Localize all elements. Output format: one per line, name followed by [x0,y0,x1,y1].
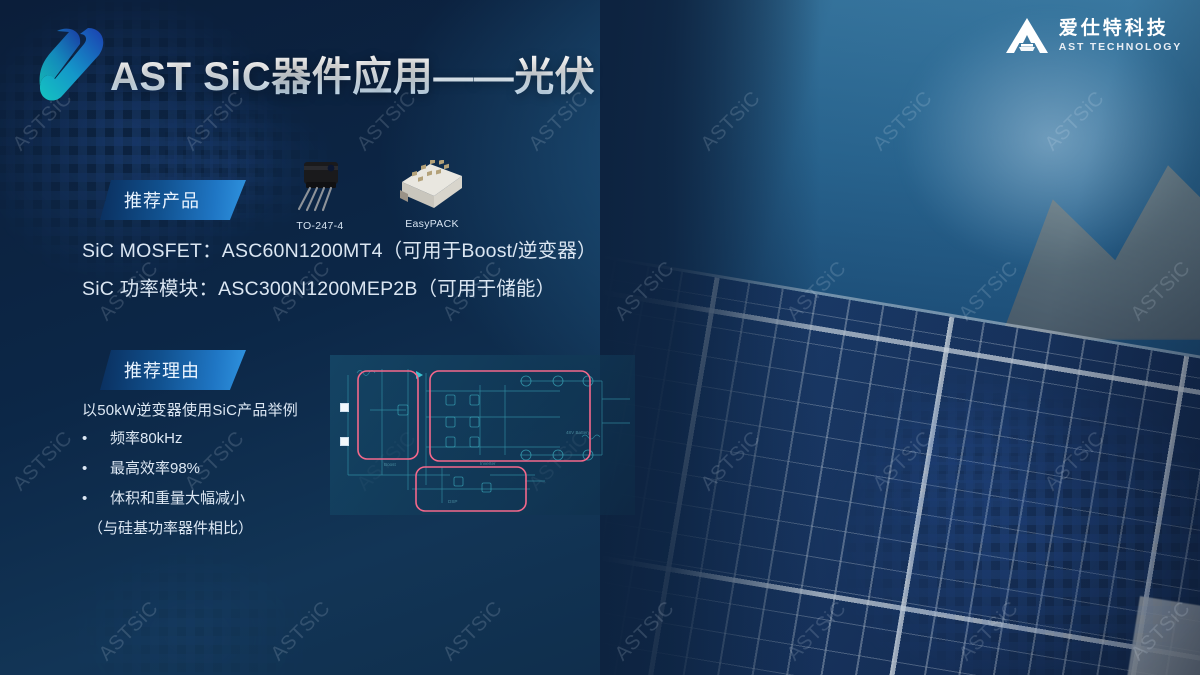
brand-name-en: AST TECHNOLOGY [1059,42,1182,53]
tab-recommendation-reasons[interactable]: 推荐理由 [100,350,246,390]
page-title: AST SiC器件应用——光伏 [110,44,595,102]
list-item-label: 体积和重量大幅减小 [110,484,245,514]
pixel-mosaic-bottom-right-2 [840,355,1080,555]
svg-text:DSP: DSP [448,499,457,504]
schematic-svg: Boost Inverter DSP 48V Battery [330,355,635,515]
slide-root: ASTSiCASTSiCASTSiCASTSiCASTSiCASTSiCASTS… [0,0,1200,675]
package-to247: TO-247-4 [276,160,364,232]
list-item: • 体积和重量大幅减小 [82,484,352,514]
bullet-marker: • [82,484,110,514]
ast-swoosh-icon [36,22,110,104]
list-item: • 最高效率98% [82,454,352,484]
reasons-note: （与硅基功率器件相比） [82,514,352,544]
brand-logo: 爱仕特科技 AST TECHNOLOGY [1004,16,1182,56]
to247-package-icon [290,160,350,216]
photo-left-fade [600,0,820,675]
product-line-mosfet: SiC MOSFET：ASC60N1200MT4（可用于Boost/逆变器） [82,232,642,270]
tab-recommended-products[interactable]: 推荐产品 [100,180,246,220]
list-item: • 频率80kHz [82,424,352,454]
bullet-marker: • [82,424,110,454]
pv-input-marker [340,403,349,412]
package-to247-label: TO-247-4 [296,220,343,232]
tab-recommendation-reasons-label: 推荐理由 [124,357,200,383]
solar-inverter-schematic: Boost Inverter DSP 48V Battery [330,355,635,515]
easypack-module-icon [396,160,468,214]
product-lines: SiC MOSFET：ASC60N1200MT4（可用于Boost/逆变器） S… [82,232,642,308]
reasons-list: 以50kW逆变器使用SiC产品举例 • 频率80kHz • 最高效率98% • … [82,398,352,544]
list-item-label: 频率80kHz [110,424,183,454]
list-item-label: 最高效率98% [110,454,200,484]
pv-input-marker [340,437,349,446]
product-line-module: SiC 功率模块：ASC300N1200MEP2B（可用于储能） [82,270,642,308]
bullet-marker: • [82,454,110,484]
package-thumbnails: TO-247-4 EasyPACK [276,160,476,232]
svg-text:Boost: Boost [384,462,396,467]
reasons-heading: 以50kW逆变器使用SiC产品举例 [82,398,352,424]
brand-name-cn: 爱仕特科技 [1059,19,1182,38]
tab-recommended-products-label: 推荐产品 [124,187,200,213]
package-easypack-label: EasyPACK [405,218,459,230]
svg-text:48V Battery: 48V Battery [566,430,591,435]
ast-triangle-icon [1004,16,1050,56]
pixel-mosaic-bottom-left [60,535,320,675]
package-easypack: EasyPACK [388,160,476,232]
